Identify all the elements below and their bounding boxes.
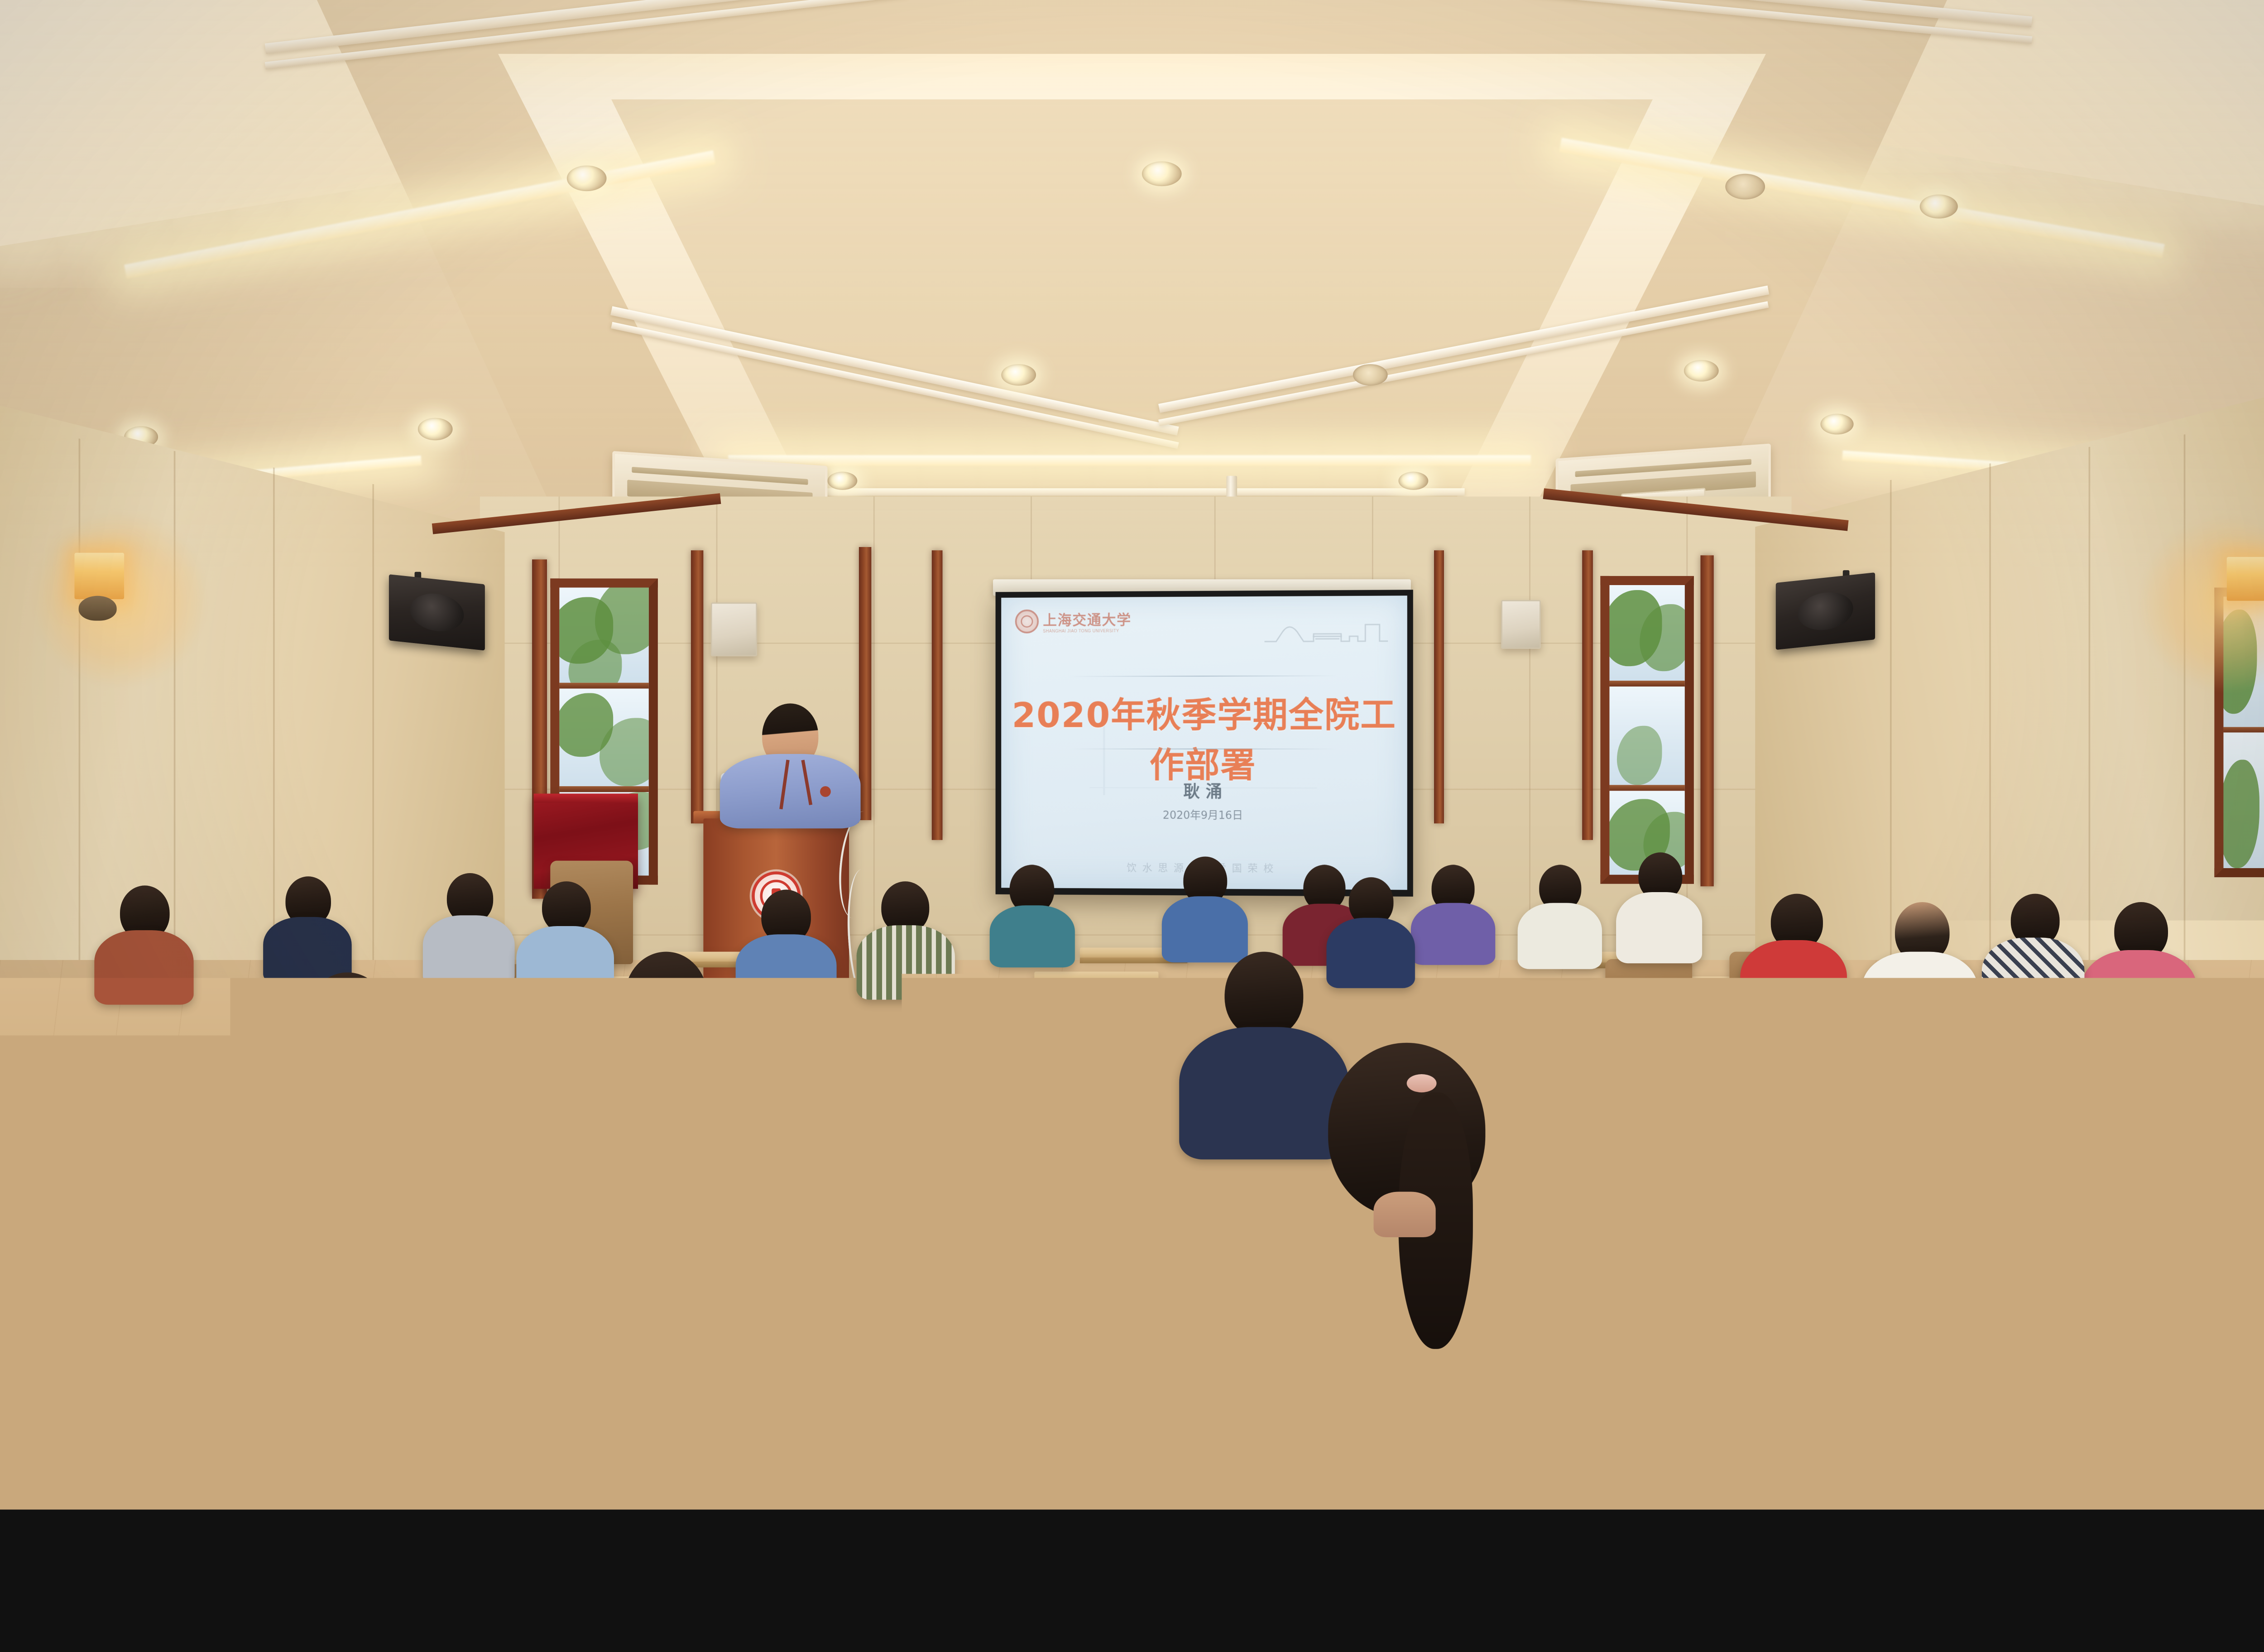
recessed-downlight (1398, 472, 1428, 490)
wall-sconce-left (74, 553, 124, 599)
slide-divider-bottom (1070, 749, 1338, 749)
desk-leg (1820, 1091, 1827, 1240)
wood-column-trim (1434, 550, 1444, 823)
wood-column-trim (1582, 550, 1593, 840)
recessed-downlight (1353, 364, 1388, 386)
chair-brand-label: SHINPA (1086, 1121, 1110, 1127)
recessed-downlight (567, 165, 607, 191)
university-name: 上海交通大学 (1043, 609, 1132, 629)
smartphone-on-desk[interactable] (194, 1053, 244, 1066)
wall-sconce-right (2227, 557, 2264, 601)
recessed-downlight (1725, 174, 1765, 200)
wall-panel-seam (1890, 480, 1892, 1035)
projection-screen-surface: 上海交通大学 SHANGHAI JIAO TONG UNIVERSITY 202… (1001, 595, 1407, 890)
desk-leg (534, 1094, 541, 1247)
ceiling-molding (819, 488, 1464, 495)
wood-column-trim (691, 550, 703, 823)
chair-row4-right[interactable]: SHINPA (1556, 1001, 1659, 1105)
slide-presenter-name: 耿 涌 (1001, 778, 1407, 802)
recessed-downlight (1684, 360, 1719, 382)
recessed-downlight (1001, 364, 1036, 386)
presenter-badge-pin (820, 786, 831, 797)
chair-row3-center[interactable]: SHINPA (1059, 1076, 1183, 1208)
chair-brand-label: SHINPA (723, 1231, 747, 1237)
slide-date: 2020年9月16日 (1001, 807, 1407, 823)
university-logo: 上海交通大学 SHANGHAI JIAO TONG UNIVERSITY (1015, 609, 1132, 634)
chair-brand-label: SHINPA (1976, 1288, 2000, 1294)
wall-panel-seam (372, 484, 374, 1039)
recessed-downlight (827, 472, 857, 490)
university-name-english: SHANGHAI JIAO TONG UNIVERSITY (1043, 629, 1132, 634)
desk-row4-center (1034, 971, 1158, 982)
chair-brand-label: SHINPA (1625, 987, 1649, 993)
cove-light-strip (728, 455, 1531, 466)
wood-column-trim (859, 547, 871, 820)
presentation-slide: 上海交通大学 SHANGHAI JIAO TONG UNIVERSITY 202… (1001, 595, 1407, 890)
wall-speaker-black-right (1776, 572, 1875, 650)
recessed-downlight (418, 418, 453, 440)
slide-divider-top (1070, 675, 1338, 677)
presenter-torso (720, 754, 861, 828)
sconce-glow-left (33, 513, 207, 687)
campus-skyline-icon (1264, 612, 1389, 645)
paper-coffee-cup (244, 1014, 279, 1060)
chair-brand-label: SHINPA (1578, 1037, 1602, 1042)
window-right (1600, 576, 1694, 884)
recessed-downlight (1820, 414, 1853, 435)
wood-column-trim (1700, 555, 1713, 886)
wall-speaker-black-left (389, 574, 485, 650)
university-seal-icon (1015, 610, 1039, 634)
projection-screen[interactable]: 上海交通大学 SHANGHAI JIAO TONG UNIVERSITY 202… (996, 590, 1413, 897)
conference-room-scene: 上海交通大学 SHANGHAI JIAO TONG UNIVERSITY 202… (0, 0, 2264, 1509)
slide-title: 2020年秋季学期全院工作部署 (1001, 687, 1407, 788)
wood-column-trim (932, 550, 943, 840)
wall-speaker-white-right (1501, 600, 1541, 649)
front-attendee-striped-shirt (699, 1238, 1063, 1509)
desk-row3-center (1001, 1014, 1166, 1027)
recessed-downlight (1142, 161, 1182, 186)
sconce-base-left (79, 596, 117, 621)
recessed-downlight (1920, 194, 1958, 218)
wall-speaker-white-left (711, 602, 757, 656)
chair-brand-label: SHINPA (1882, 1131, 1906, 1137)
